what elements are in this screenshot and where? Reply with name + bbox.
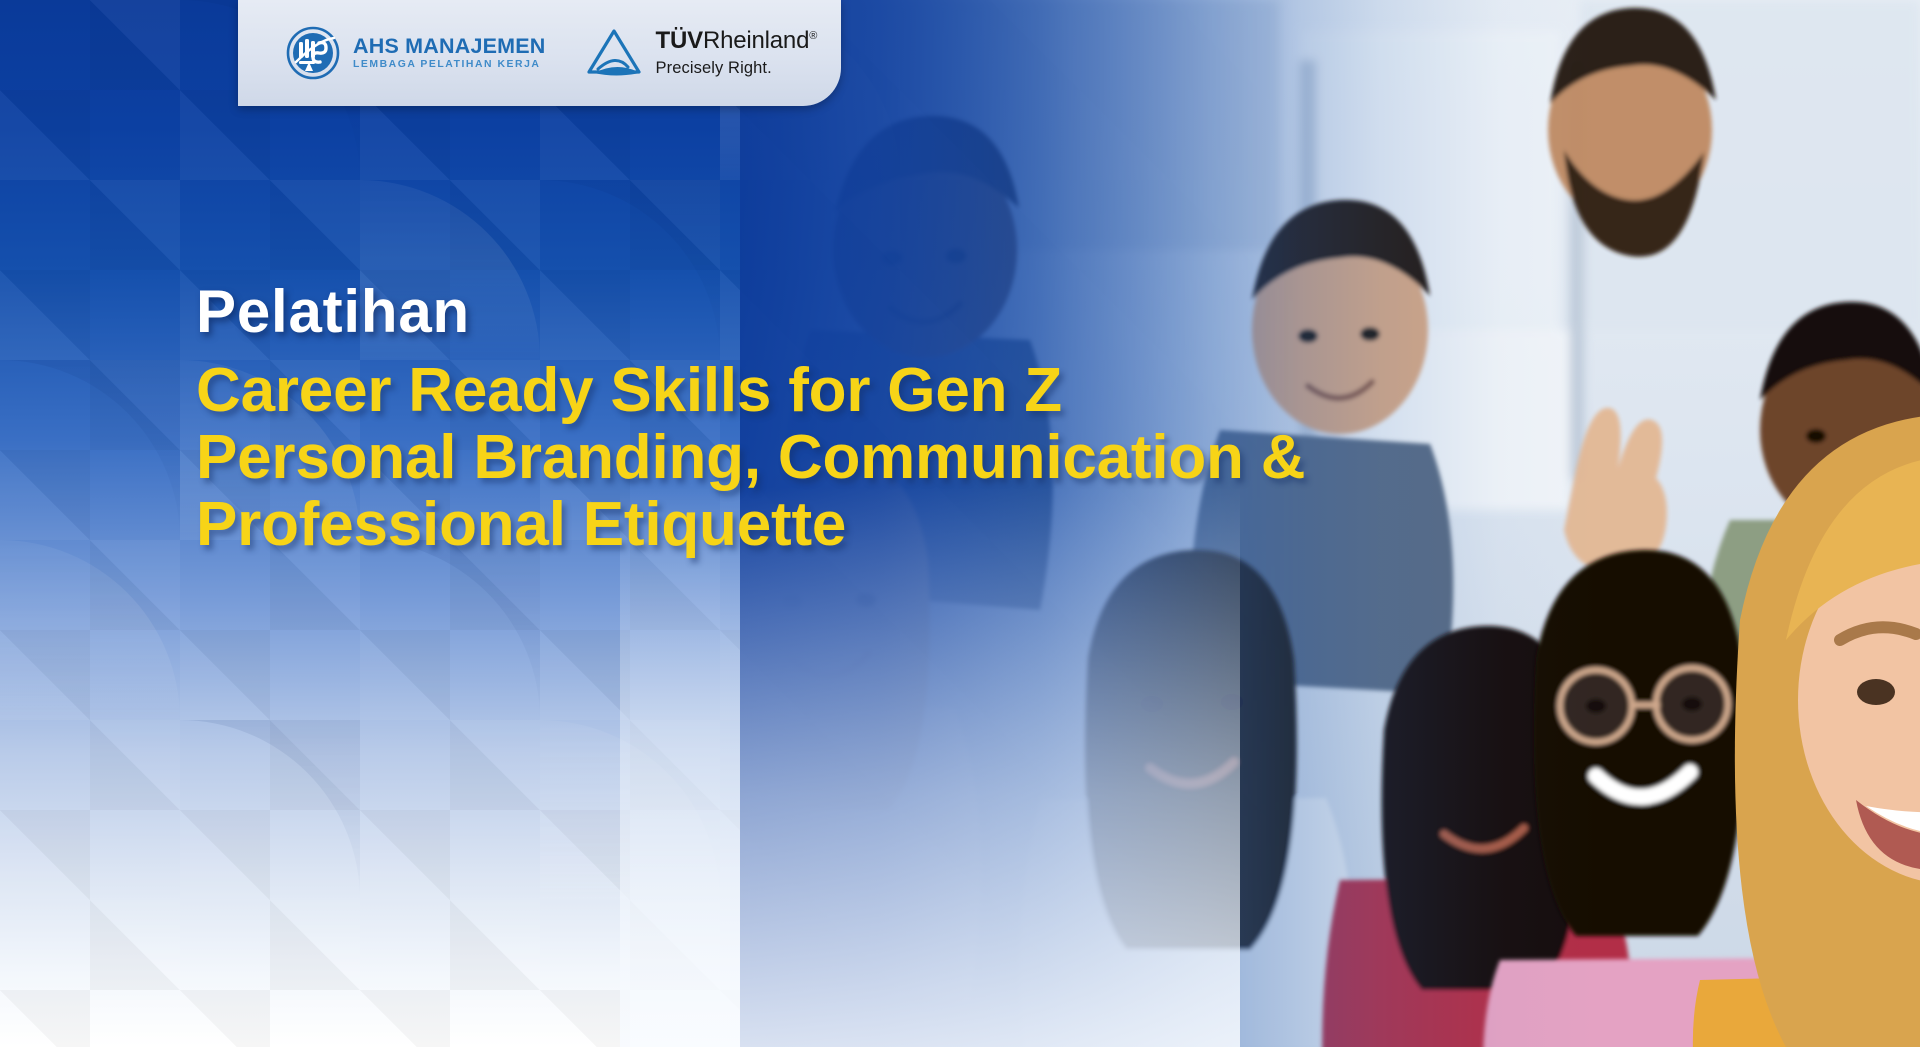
logo-badge: AHS MANAJEMEN LEMBAGA PELATIHAN KERJA TÜ… <box>238 0 841 106</box>
registered-mark: ® <box>809 30 817 42</box>
tuv-claim: Precisely Right. <box>656 60 818 77</box>
tuv-name: TÜVRheinland® <box>656 29 818 53</box>
headline-line-3: Professional Etiquette <box>196 492 1496 559</box>
ahs-name: AHS MANAJEMEN <box>353 36 546 58</box>
eyebrow-label: Pelatihan <box>196 277 470 346</box>
ahs-tagline: LEMBAGA PELATIHAN KERJA <box>353 60 546 70</box>
tuv-triangle-logo <box>586 28 642 78</box>
headline-line-2: Personal Branding, Communication & <box>196 425 1496 492</box>
headline-line-1: Career Ready Skills for Gen Z <box>196 358 1496 425</box>
ahs-logo: AHS MANAJEMEN LEMBAGA PELATIHAN KERJA <box>286 26 546 80</box>
tuv-rheinland-logo: TÜVRheinland® Precisely Right. <box>586 28 818 78</box>
ahs-circular-monogram-logo <box>286 26 340 80</box>
tuv-logo-text: TÜVRheinland® Precisely Right. <box>656 29 818 77</box>
page-title: Career Ready Skills for Gen Z Personal B… <box>196 358 1496 559</box>
tuv-name-regular: Rheinland <box>703 27 809 54</box>
training-promo-banner: AHS MANAJEMEN LEMBAGA PELATIHAN KERJA TÜ… <box>0 0 1920 1047</box>
tuv-name-bold: TÜV <box>656 27 703 54</box>
ahs-logo-text: AHS MANAJEMEN LEMBAGA PELATIHAN KERJA <box>353 36 546 71</box>
